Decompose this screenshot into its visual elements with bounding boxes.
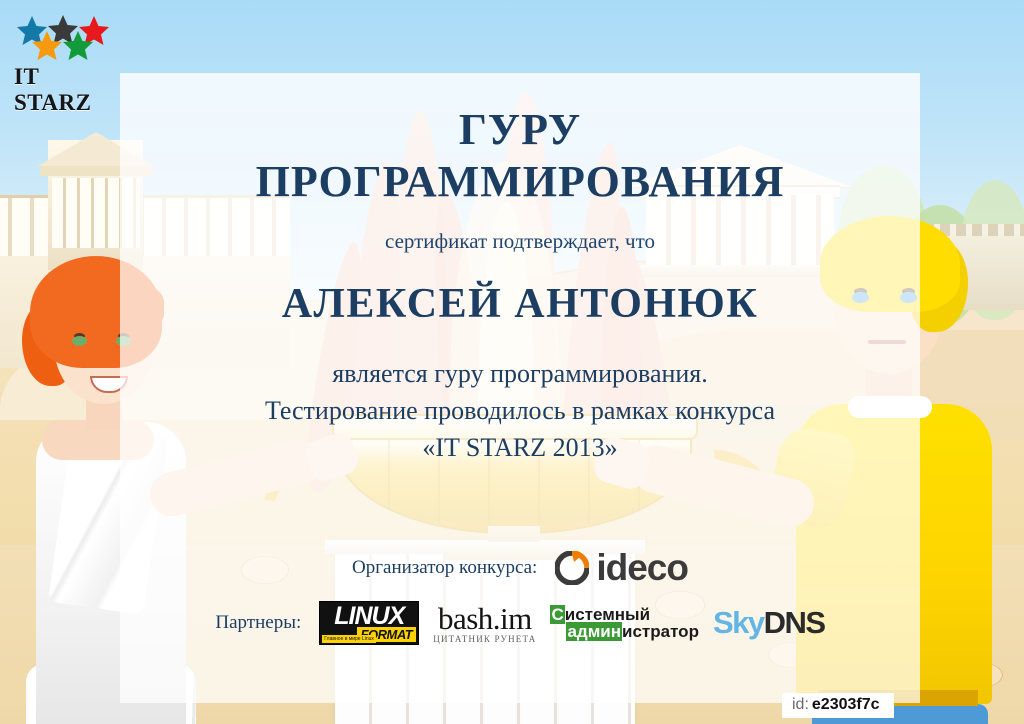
id-badge-label: id: xyxy=(792,696,809,713)
linux-format-tagline: Главное в мире Linux xyxy=(322,635,376,643)
certificate-canvas: IT STARZ ГУРУ ПРОГРАММИРОВАНИЯ сертифика… xyxy=(0,0,1024,724)
sysadmin-line1-highlight: С xyxy=(550,605,564,624)
recipient-name: АЛЕКСЕЙ АНТОНЮК xyxy=(120,280,920,328)
id-badge: id:e2303f7c xyxy=(782,693,894,718)
certificate-title-line1: ГУРУ xyxy=(120,107,920,153)
sistemny-administrator-logo[interactable]: Системный администратор xyxy=(550,606,699,640)
certificate-body-line1: является гуру программирования. xyxy=(120,356,920,393)
sysadmin-line2: администратор xyxy=(566,623,699,640)
star-red-icon xyxy=(79,16,109,45)
skydns-logo[interactable]: SkyDNS xyxy=(713,605,825,641)
partners-row: Партнеры: LINUX FORMAT Главное в мире Li… xyxy=(120,601,920,645)
star-blue-icon xyxy=(17,16,47,45)
certificate-body-line2: Тестирование проводилось в рамках конкур… xyxy=(120,393,920,430)
logo-text: IT STARZ xyxy=(14,64,118,116)
linux-format-logo[interactable]: LINUX FORMAT Главное в мире Linux xyxy=(319,601,419,645)
organizer-label: Организатор конкурса: xyxy=(352,557,537,579)
certificate-content: ГУРУ ПРОГРАММИРОВАНИЯ сертификат подтвер… xyxy=(120,73,920,703)
ideco-ring-icon xyxy=(555,551,589,585)
organizer-row: Организатор конкурса: ideco xyxy=(120,547,920,589)
sysadmin-line2-highlight: админ xyxy=(566,622,622,641)
ideco-logo[interactable]: ideco xyxy=(555,547,688,589)
id-badge-value: e2303f7c xyxy=(812,696,880,713)
partners-label: Партнеры: xyxy=(215,612,301,634)
certificate-confirm-text: сертификат подтверждает, что xyxy=(120,229,920,254)
logo-stars xyxy=(14,14,118,62)
linux-format-main: LINUX xyxy=(324,603,414,629)
sysadmin-line2-rest: истратор xyxy=(622,622,699,641)
skydns-part-b: DNS xyxy=(764,605,825,640)
star-dark-icon xyxy=(48,15,78,44)
bash-im-wordmark: bash.im xyxy=(438,603,532,634)
it-starz-logo[interactable]: IT STARZ xyxy=(14,14,118,100)
certificate-title-line2: ПРОГРАММИРОВАНИЯ xyxy=(120,159,920,205)
bash-im-logo[interactable]: bash.im ЦИТАТНИК РУНЕТА xyxy=(433,603,536,644)
woman-eye xyxy=(72,336,87,346)
certificate-body-line3: «IT STARZ 2013» xyxy=(120,430,920,467)
certificate-body: является гуру программирования. Тестиров… xyxy=(120,356,920,467)
stars-svg xyxy=(14,14,118,62)
ideco-wordmark: ideco xyxy=(596,547,688,589)
skydns-part-a: Sky xyxy=(713,605,764,640)
bash-im-subtitle: ЦИТАТНИК РУНЕТА xyxy=(433,635,536,644)
